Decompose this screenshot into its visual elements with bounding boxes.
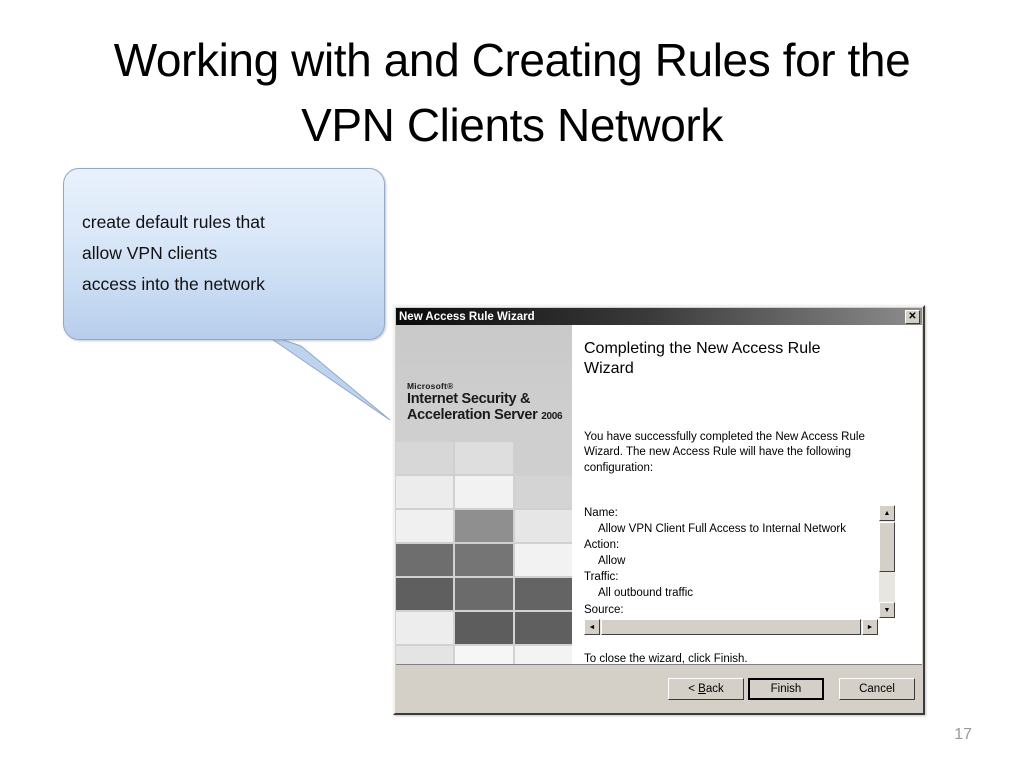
scroll-right-icon[interactable]: ► — [862, 619, 878, 635]
mosaic-cell — [515, 646, 572, 664]
horizontal-scroll-thumb[interactable] — [601, 619, 861, 635]
summary-key: Name: — [584, 505, 878, 521]
mosaic-cell — [515, 578, 572, 610]
product-name-line2-text: Acceleration Server — [407, 407, 538, 423]
mosaic-cell — [396, 510, 453, 542]
dialog-button-bar: < Back Finish Cancel — [396, 664, 922, 712]
mosaic-cell — [455, 646, 512, 664]
summary-value: Allow — [584, 553, 878, 569]
dialog-title: New Access Rule Wizard — [399, 311, 905, 323]
mosaic-decoration — [396, 442, 572, 664]
summary-key: Source: — [584, 602, 878, 618]
summary-panel: Name:Allow VPN Client Full Access to Int… — [584, 505, 895, 635]
mosaic-cell — [396, 476, 453, 508]
mosaic-cell — [396, 612, 453, 644]
wizard-heading: Completing the New Access Rule Wizard — [584, 339, 874, 379]
close-icon[interactable]: ✕ — [905, 310, 920, 324]
callout-bubble: create default rules that allow VPN clie… — [63, 168, 385, 340]
wizard-content-pane: Completing the New Access Rule Wizard Yo… — [572, 325, 922, 664]
mosaic-cell — [515, 612, 572, 644]
isa-server-logo: Microsoft® Internet Security & Accelerat… — [407, 381, 562, 423]
scroll-up-icon[interactable]: ▲ — [879, 505, 895, 521]
wizard-intro-text: You have successfully completed the New … — [584, 430, 884, 476]
page-title: Working with and Creating Rules for the … — [70, 28, 954, 159]
summary-key: Traffic: — [584, 569, 878, 585]
branding-panel: Microsoft® Internet Security & Accelerat… — [396, 325, 572, 664]
scroll-left-icon[interactable]: ◄ — [584, 619, 600, 635]
mosaic-cell — [515, 442, 572, 474]
mosaic-cell — [455, 578, 512, 610]
summary-horizontal-scrollbar[interactable]: ◄ ► — [584, 619, 878, 635]
mosaic-cell — [396, 442, 453, 474]
summary-key: Action: — [584, 537, 878, 553]
slide-page-number: 17 — [954, 726, 972, 744]
mosaic-cell — [455, 510, 512, 542]
summary-value: All outbound traffic — [584, 585, 878, 601]
mosaic-cell — [455, 442, 512, 474]
mosaic-cell — [515, 510, 572, 542]
finish-button[interactable]: Finish — [748, 678, 824, 700]
product-year: 2006 — [541, 411, 562, 422]
callout-text: create default rules that allow VPN clie… — [82, 207, 372, 300]
scroll-down-icon[interactable]: ▼ — [879, 602, 895, 618]
product-name-line2: Acceleration Server 2006 — [407, 408, 562, 424]
summary-listbox[interactable]: Name:Allow VPN Client Full Access to Int… — [584, 505, 878, 618]
back-button-hotkey: B — [698, 683, 706, 695]
mosaic-cell — [455, 612, 512, 644]
callout-body: create default rules that allow VPN clie… — [63, 168, 385, 340]
summary-value: Allow VPN Client Full Access to Internal… — [584, 521, 878, 537]
summary-vertical-scrollbar[interactable]: ▲ ▼ — [879, 505, 895, 618]
new-access-rule-wizard-dialog: New Access Rule Wizard ✕ Microsoft® Inte… — [393, 305, 925, 715]
mosaic-cell — [396, 578, 453, 610]
mosaic-cell — [515, 476, 572, 508]
vertical-scroll-thumb[interactable] — [879, 522, 895, 572]
mosaic-cell — [455, 544, 512, 576]
mosaic-cell — [515, 544, 572, 576]
mosaic-cell — [455, 476, 512, 508]
mosaic-cell — [396, 544, 453, 576]
back-button-label: < Back — [688, 683, 724, 695]
cancel-button[interactable]: Cancel — [839, 678, 915, 700]
dialog-body: Microsoft® Internet Security & Accelerat… — [396, 325, 922, 664]
product-name-line1: Internet Security & — [407, 392, 562, 408]
dialog-titlebar[interactable]: New Access Rule Wizard ✕ — [396, 308, 922, 325]
back-button[interactable]: < Back — [668, 678, 744, 700]
mosaic-cell — [396, 646, 453, 664]
microsoft-wordmark: Microsoft® — [407, 381, 562, 391]
